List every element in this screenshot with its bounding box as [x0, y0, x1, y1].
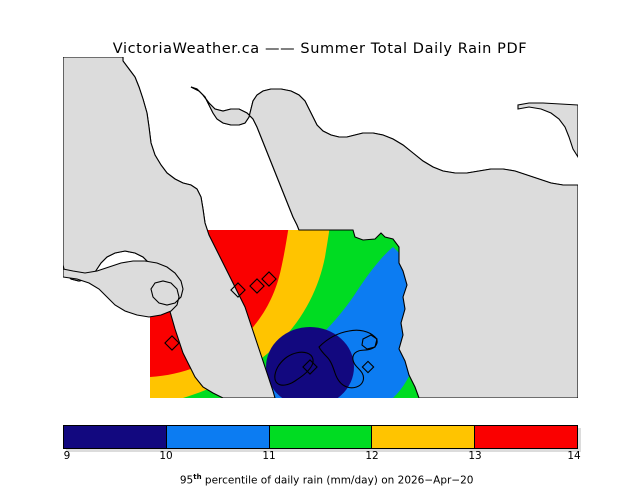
colorbar	[63, 425, 578, 449]
caption-text: percentile of daily rain (mm/day) on 202…	[202, 475, 474, 487]
screenshot-root: VictoriaWeather.ca —— Summer Total Daily…	[0, 0, 640, 480]
colorbar-segment-10-11	[167, 426, 270, 448]
colorbar-bands[interactable]	[63, 425, 578, 449]
colorbar-segment-13-14	[475, 426, 577, 448]
colorbar-segment-9-10	[64, 426, 167, 448]
caption-value: 95	[180, 475, 193, 487]
weather-map[interactable]	[63, 57, 578, 398]
page-title: VictoriaWeather.ca —— Summer Total Daily…	[0, 41, 640, 57]
colorbar-segment-11-12	[270, 426, 373, 448]
colorbar-segment-12-13	[372, 426, 475, 448]
map-panel[interactable]	[63, 57, 578, 398]
